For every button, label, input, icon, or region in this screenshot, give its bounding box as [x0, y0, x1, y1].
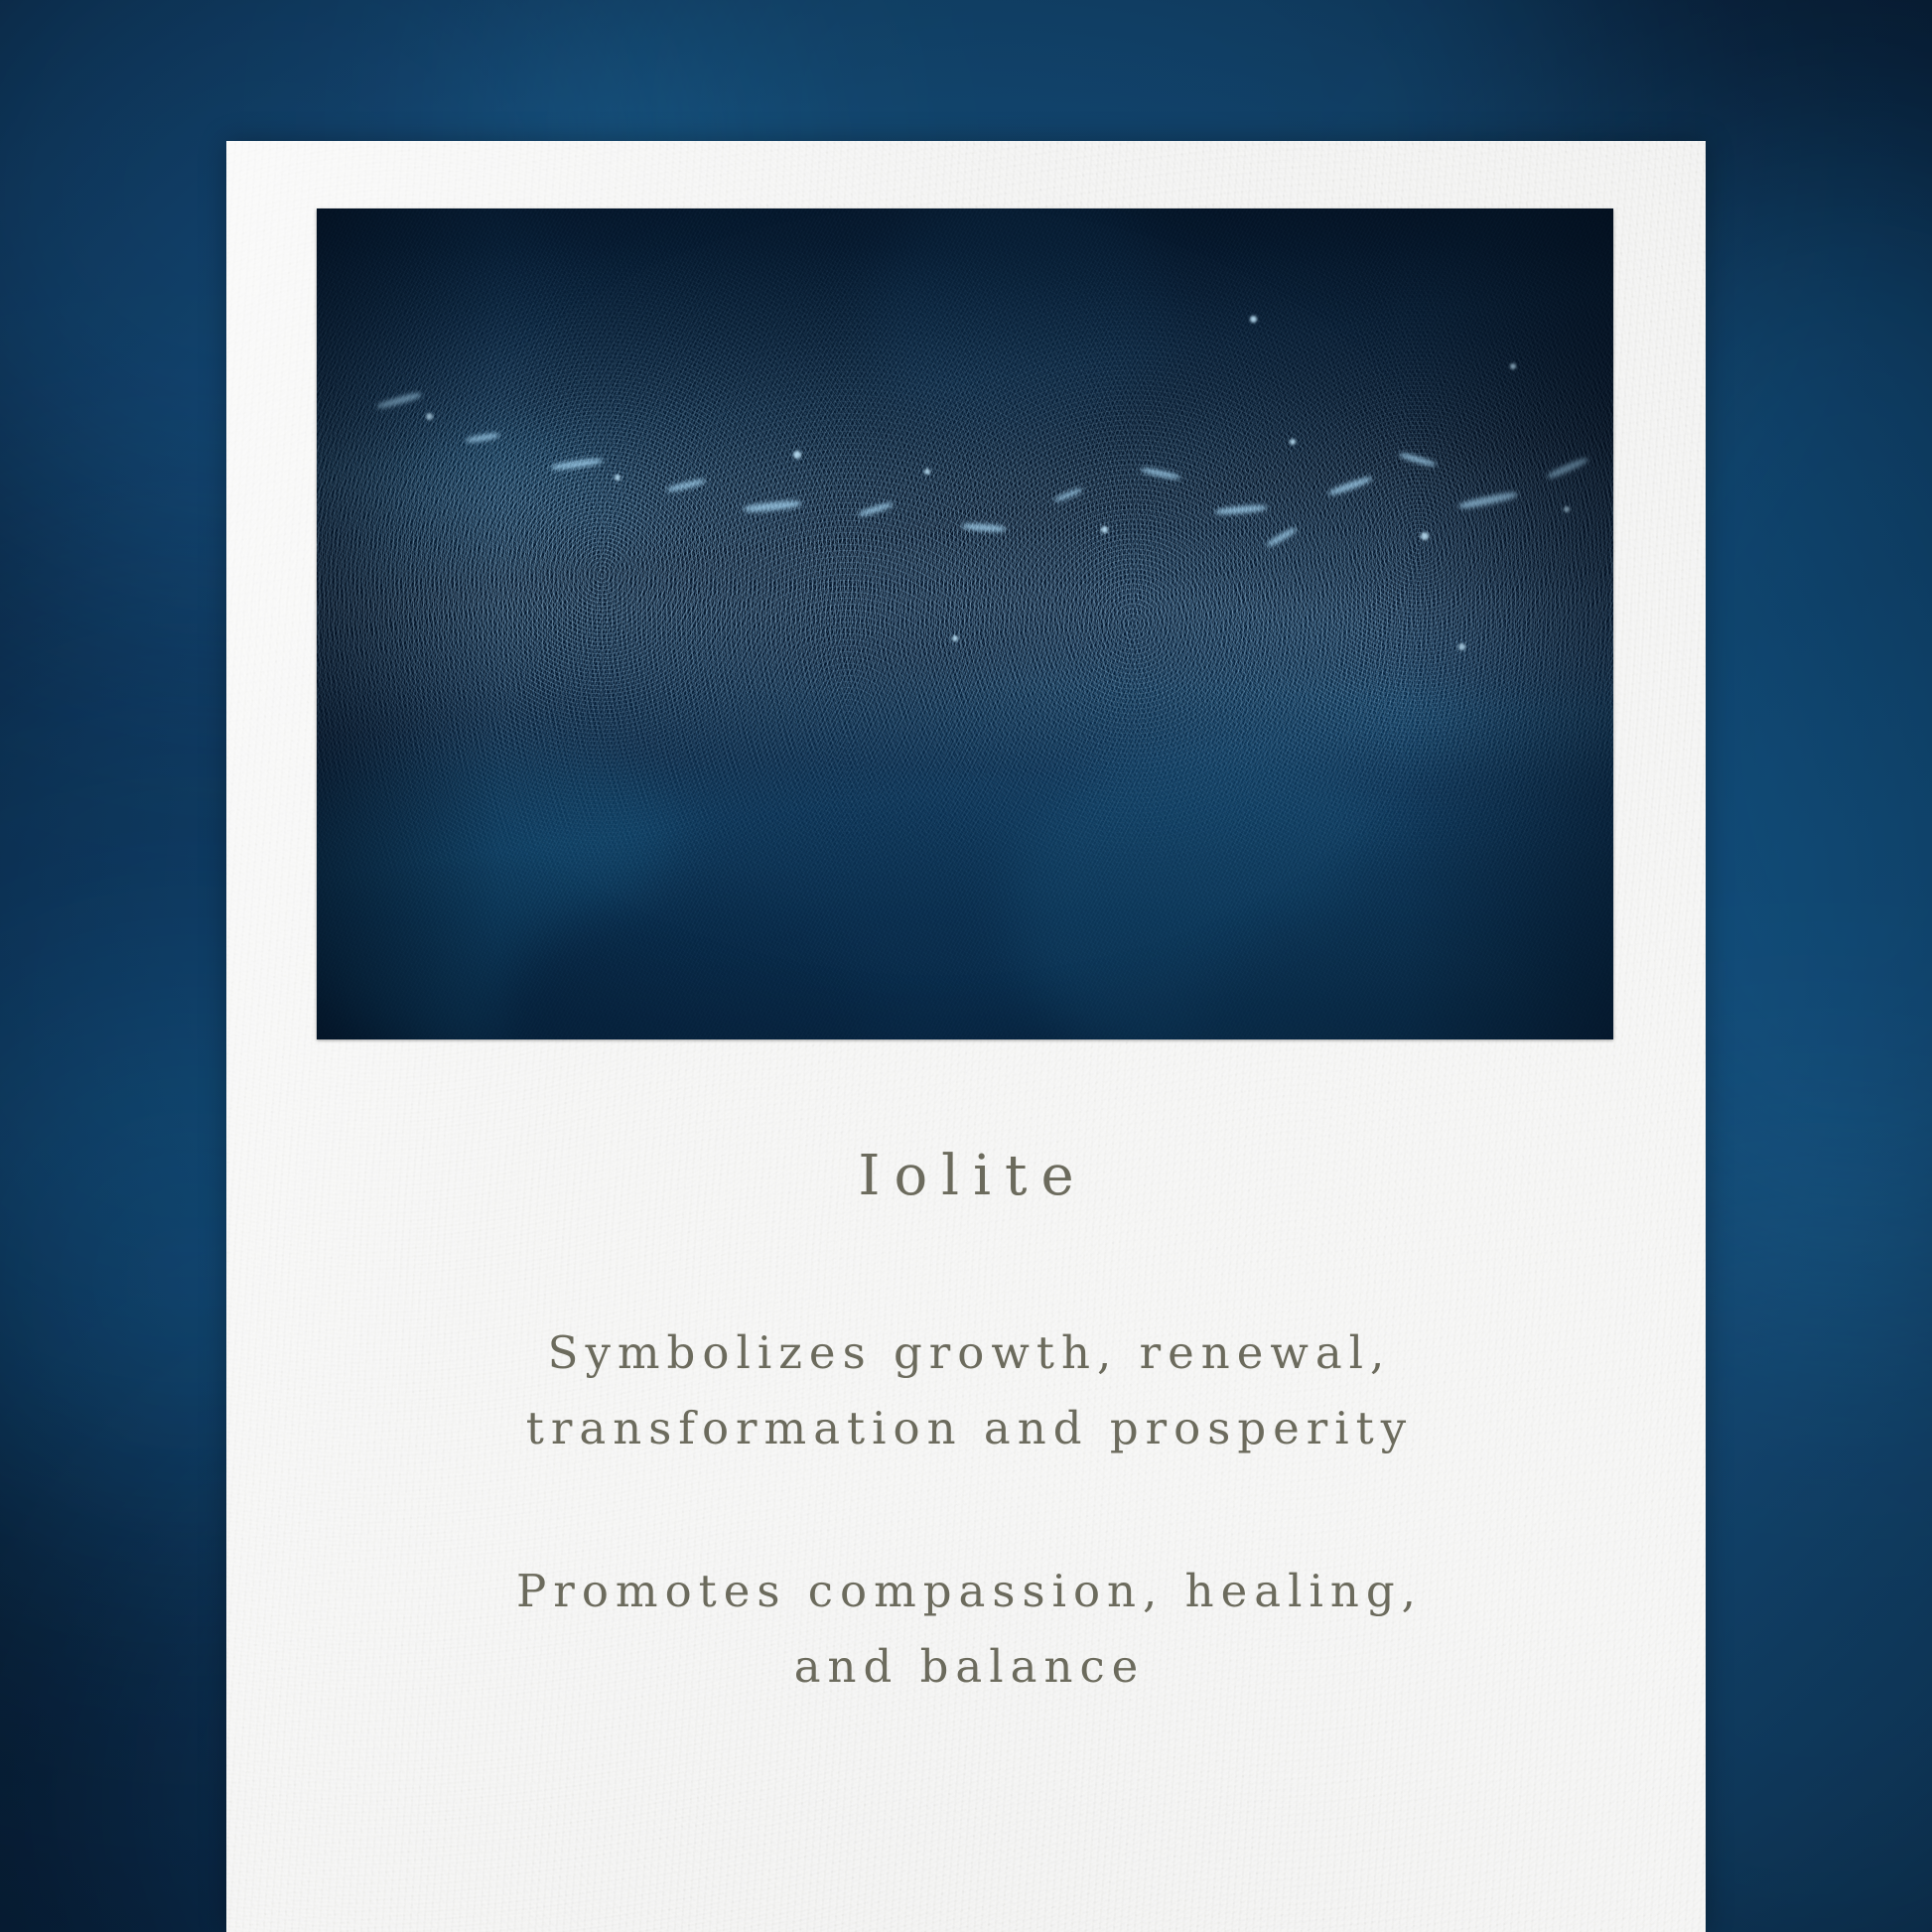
meaning-paragraph: Symbolizes growth, renewal, transformati…: [326, 1315, 1606, 1466]
paragraph-line: Promotes compassion, healing,: [326, 1554, 1606, 1629]
page-title: Iolite: [226, 1039, 1706, 1204]
paper-card: Iolite Symbolizes growth, renewal, trans…: [226, 141, 1706, 1932]
paragraph-line: and balance: [326, 1629, 1606, 1705]
photo-vignette: [317, 208, 1613, 1039]
mineral-photo: [317, 208, 1613, 1039]
poster-canvas: Iolite Symbolizes growth, renewal, trans…: [0, 0, 1932, 1932]
paragraph-line: Symbolizes growth, renewal,: [326, 1315, 1606, 1391]
properties-paragraph: Promotes compassion, healing, and balanc…: [326, 1554, 1606, 1705]
caption-block: Iolite Symbolizes growth, renewal, trans…: [226, 1039, 1706, 1705]
paragraph-line: transformation and prosperity: [326, 1391, 1606, 1466]
